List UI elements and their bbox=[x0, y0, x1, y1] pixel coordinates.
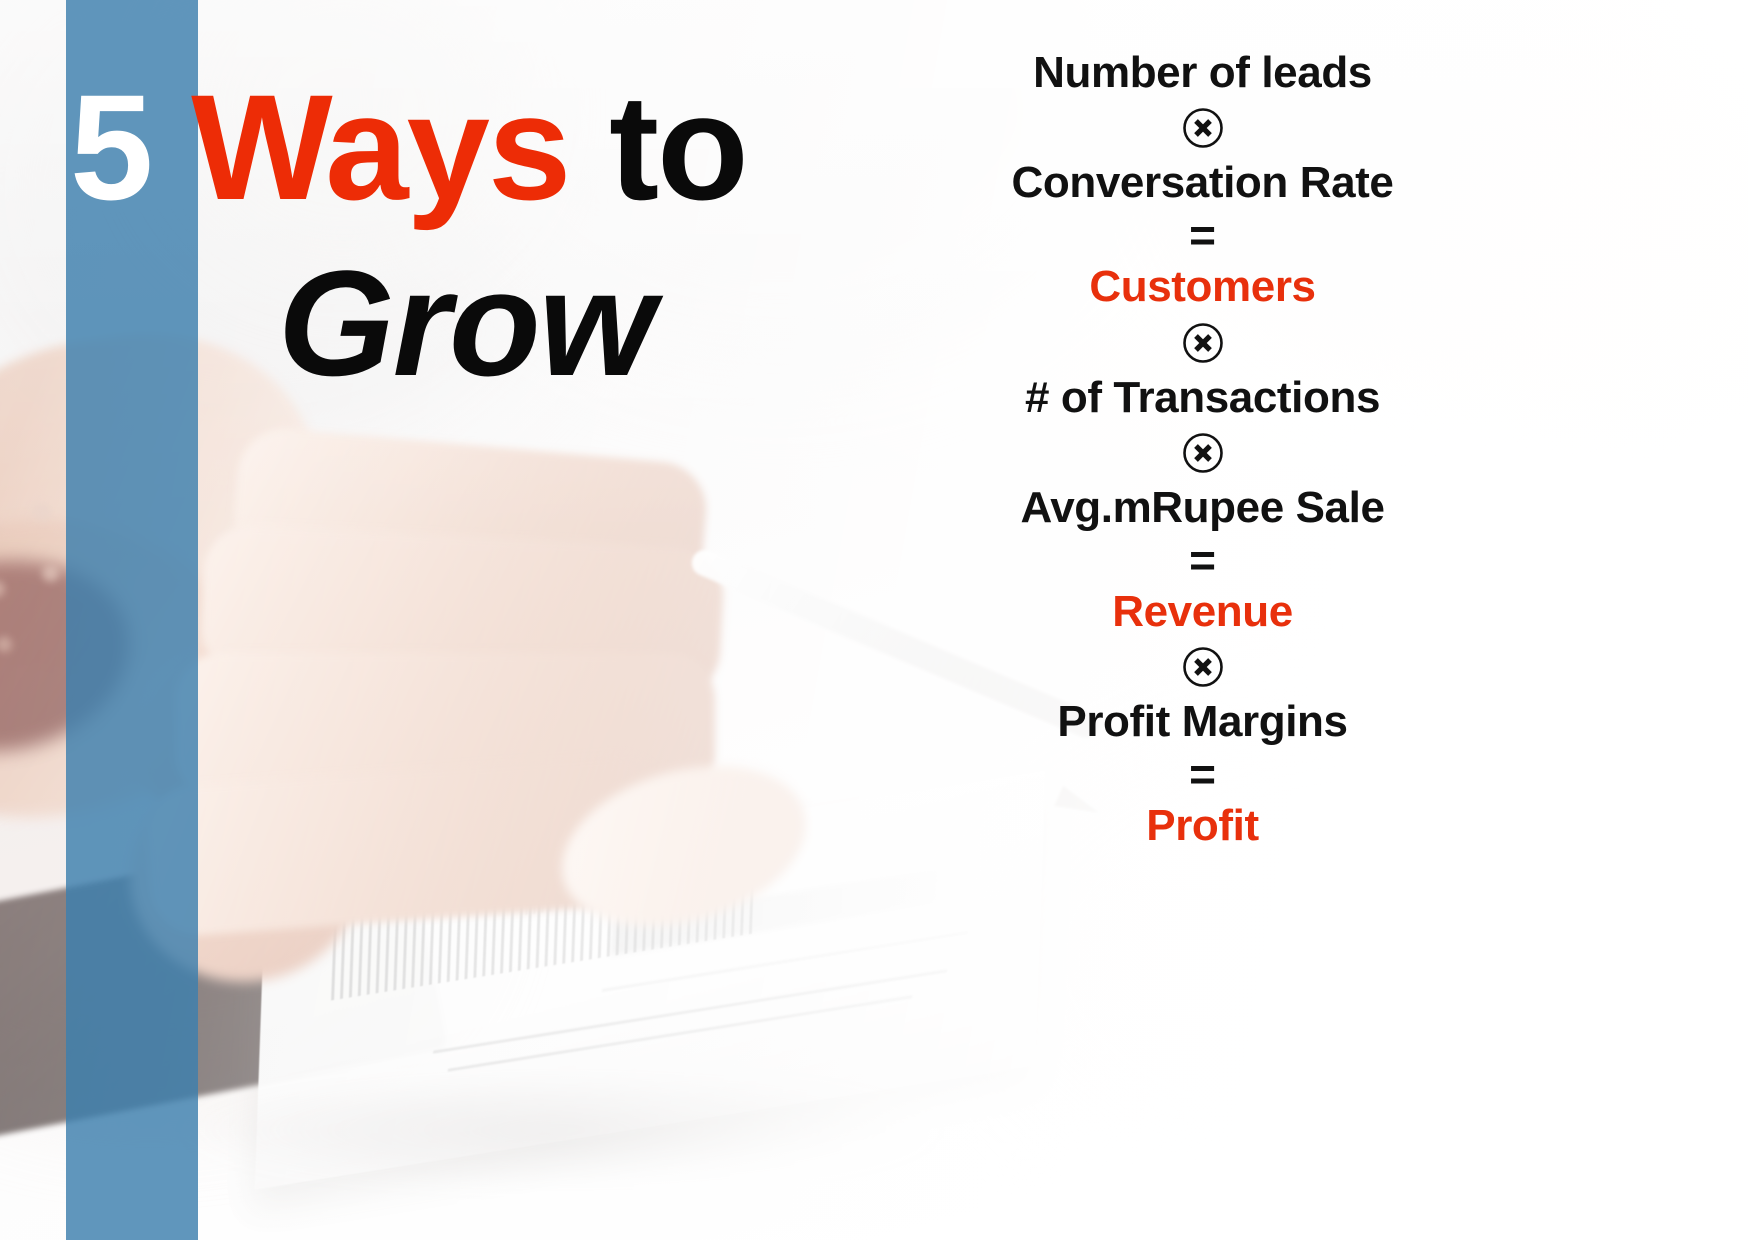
growth-formula: Number of leads Conversation Rate = Cust… bbox=[935, 50, 1470, 850]
circled-times-icon bbox=[1180, 644, 1226, 690]
poster-canvas: 5 Ways to Grow Number of leads Conversat… bbox=[0, 0, 1748, 1240]
formula-term-customers: Customers bbox=[1089, 264, 1315, 310]
formula-term-profit-margins: Profit Margins bbox=[1057, 699, 1347, 745]
title-line-1: 5 Ways to bbox=[70, 72, 747, 222]
formula-term-avg-sale: Avg.mRupee Sale bbox=[1020, 485, 1384, 531]
circled-times-icon bbox=[1180, 105, 1226, 151]
title-number: 5 bbox=[70, 63, 151, 231]
circled-times-icon bbox=[1180, 320, 1226, 366]
title-line-2: Grow bbox=[278, 248, 653, 398]
formula-equals-3: = bbox=[1189, 751, 1216, 797]
formula-equals-2: = bbox=[1189, 537, 1216, 583]
formula-term-leads: Number of leads bbox=[1033, 50, 1372, 96]
formula-term-conversation-rate: Conversation Rate bbox=[1012, 160, 1394, 206]
formula-equals-1: = bbox=[1189, 212, 1216, 258]
formula-term-profit: Profit bbox=[1146, 803, 1258, 849]
title-word-to: to bbox=[609, 63, 747, 231]
title-word-ways: Ways bbox=[191, 63, 569, 231]
formula-term-transactions: # of Transactions bbox=[1025, 375, 1380, 421]
formula-term-revenue: Revenue bbox=[1112, 589, 1293, 635]
circled-times-icon bbox=[1180, 430, 1226, 476]
